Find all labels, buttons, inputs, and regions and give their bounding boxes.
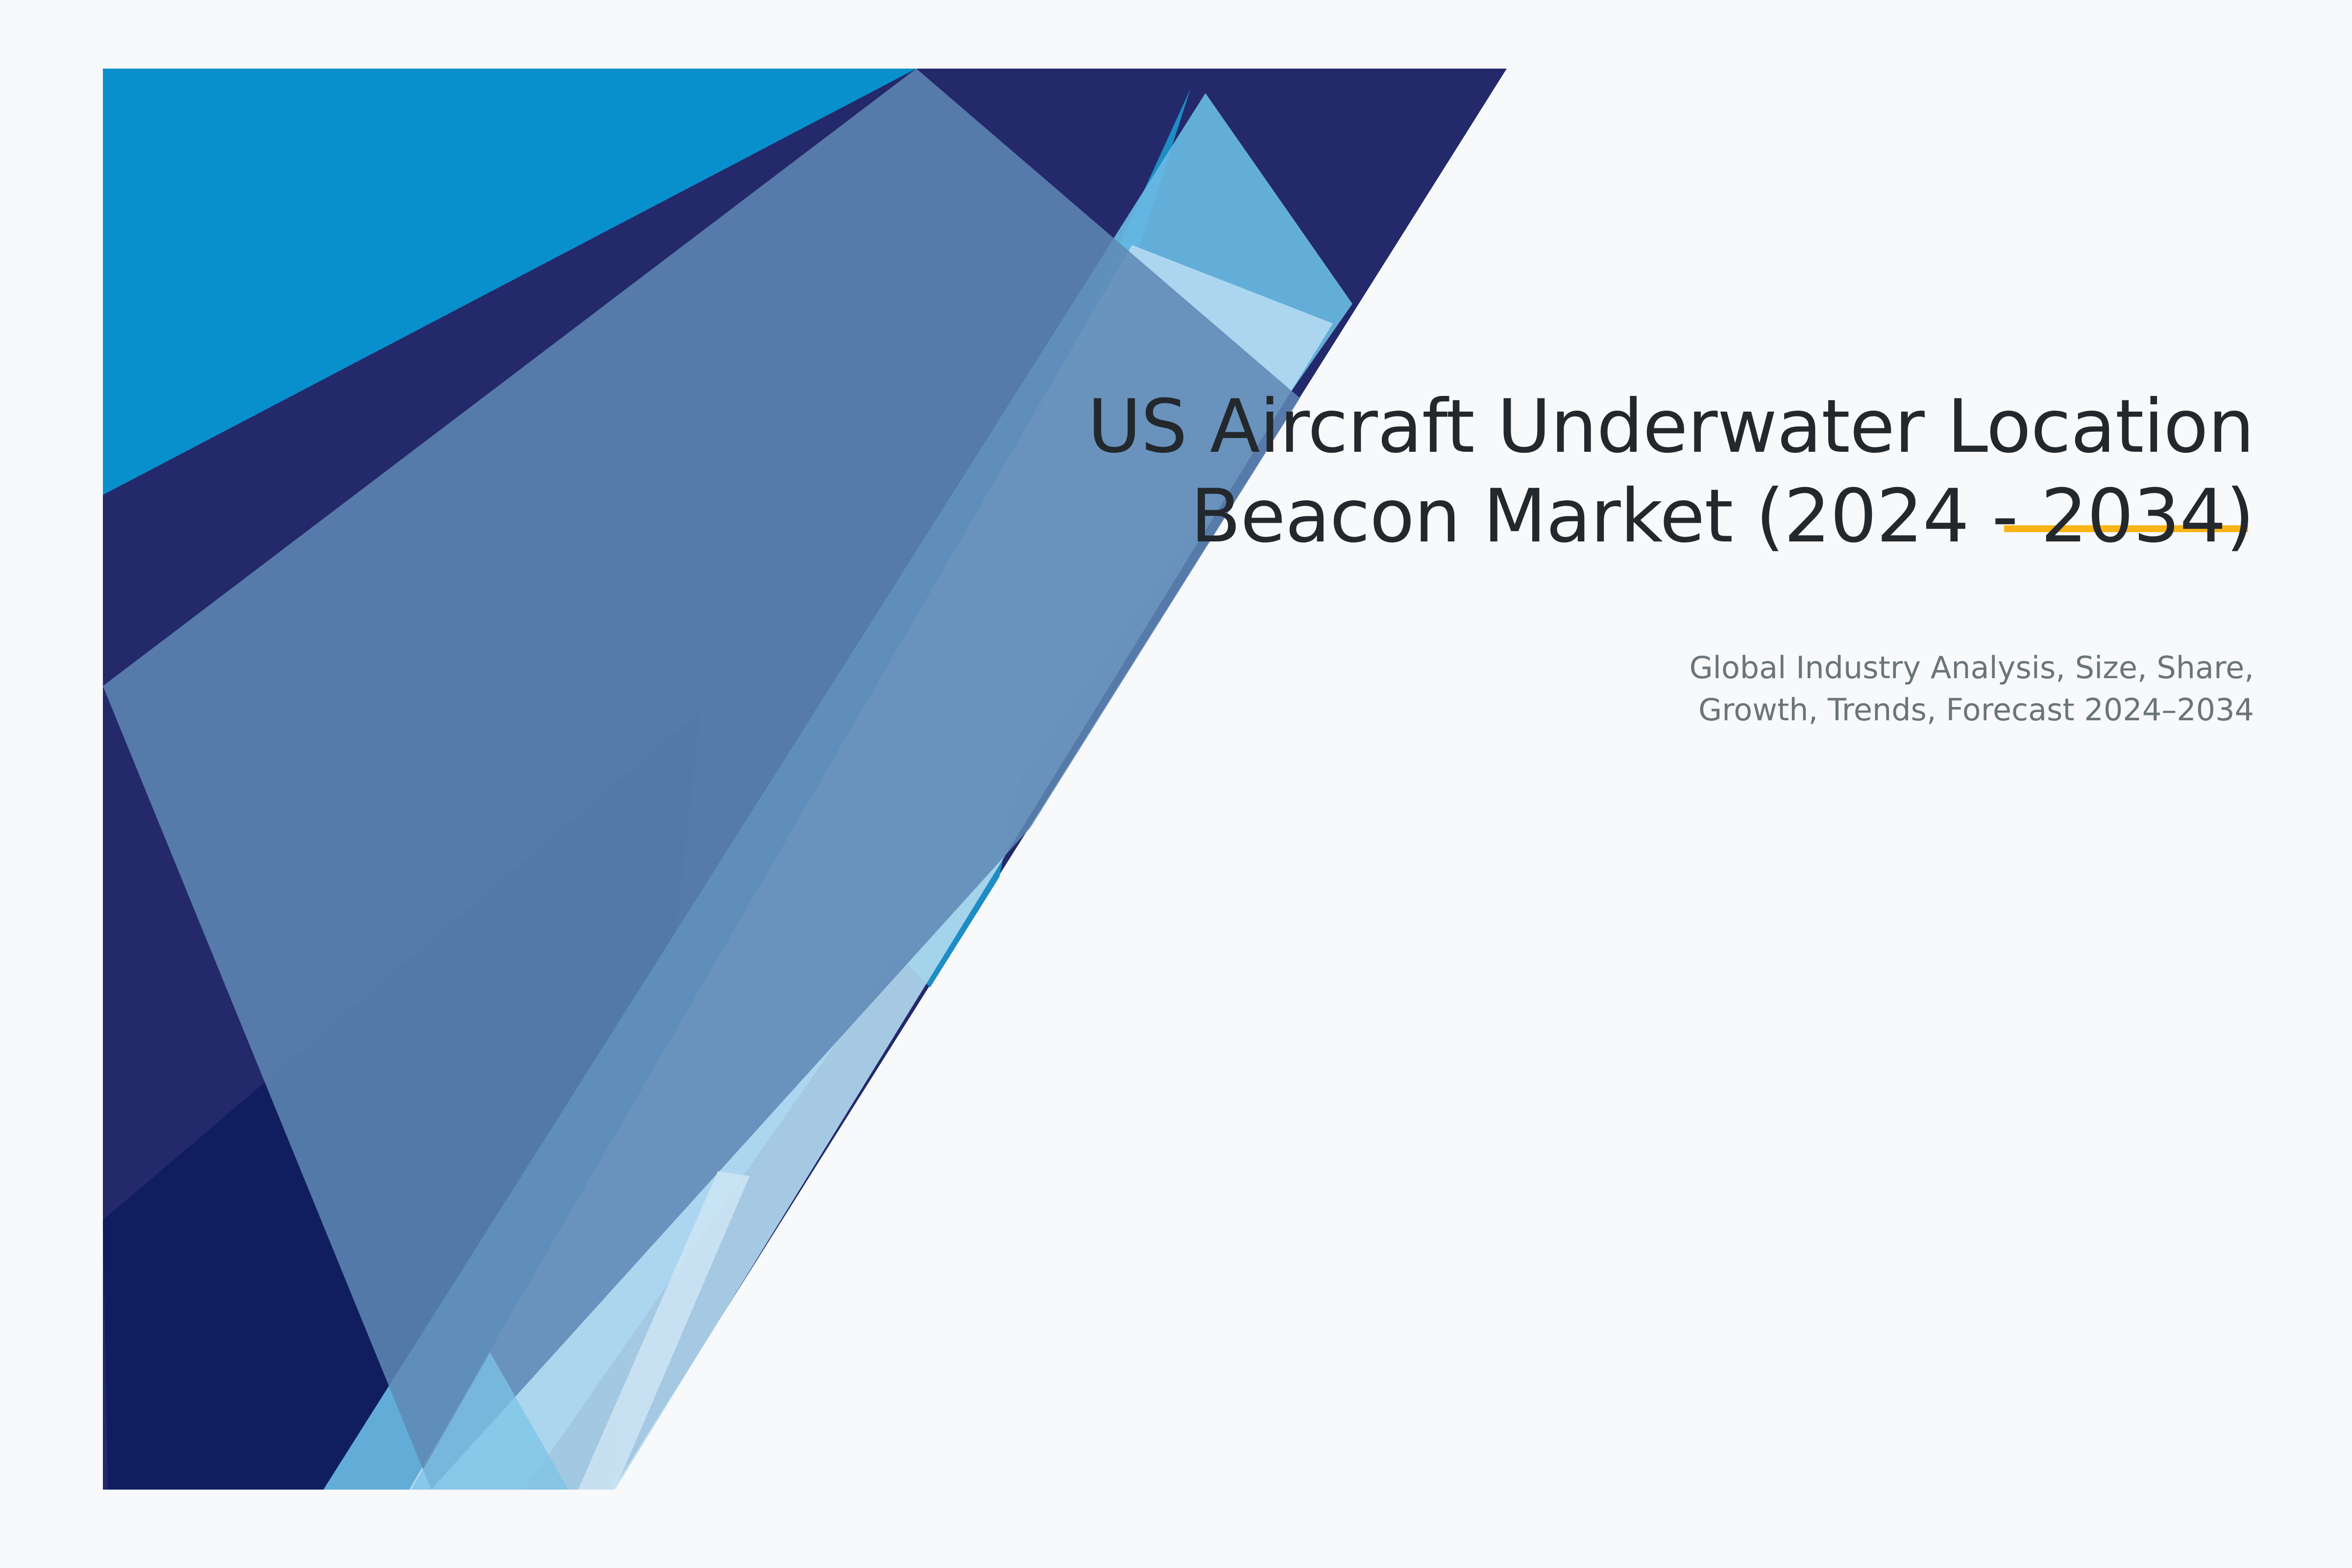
page-title: US Aircraft Underwater Location Beacon M…	[1029, 382, 2254, 562]
report-cover-page: US Aircraft Underwater Location Beacon M…	[0, 0, 2352, 1568]
artwork-mask-top	[0, 0, 2352, 69]
abstract-geometric-artwork	[0, 0, 2352, 1568]
artwork-mask-left	[0, 0, 103, 1568]
title-block: US Aircraft Underwater Location Beacon M…	[1029, 382, 2254, 562]
artwork-mask-bottom	[0, 1490, 2352, 1568]
page-subtitle: Global Industry Analysis, Size, Share, G…	[1274, 647, 2254, 731]
